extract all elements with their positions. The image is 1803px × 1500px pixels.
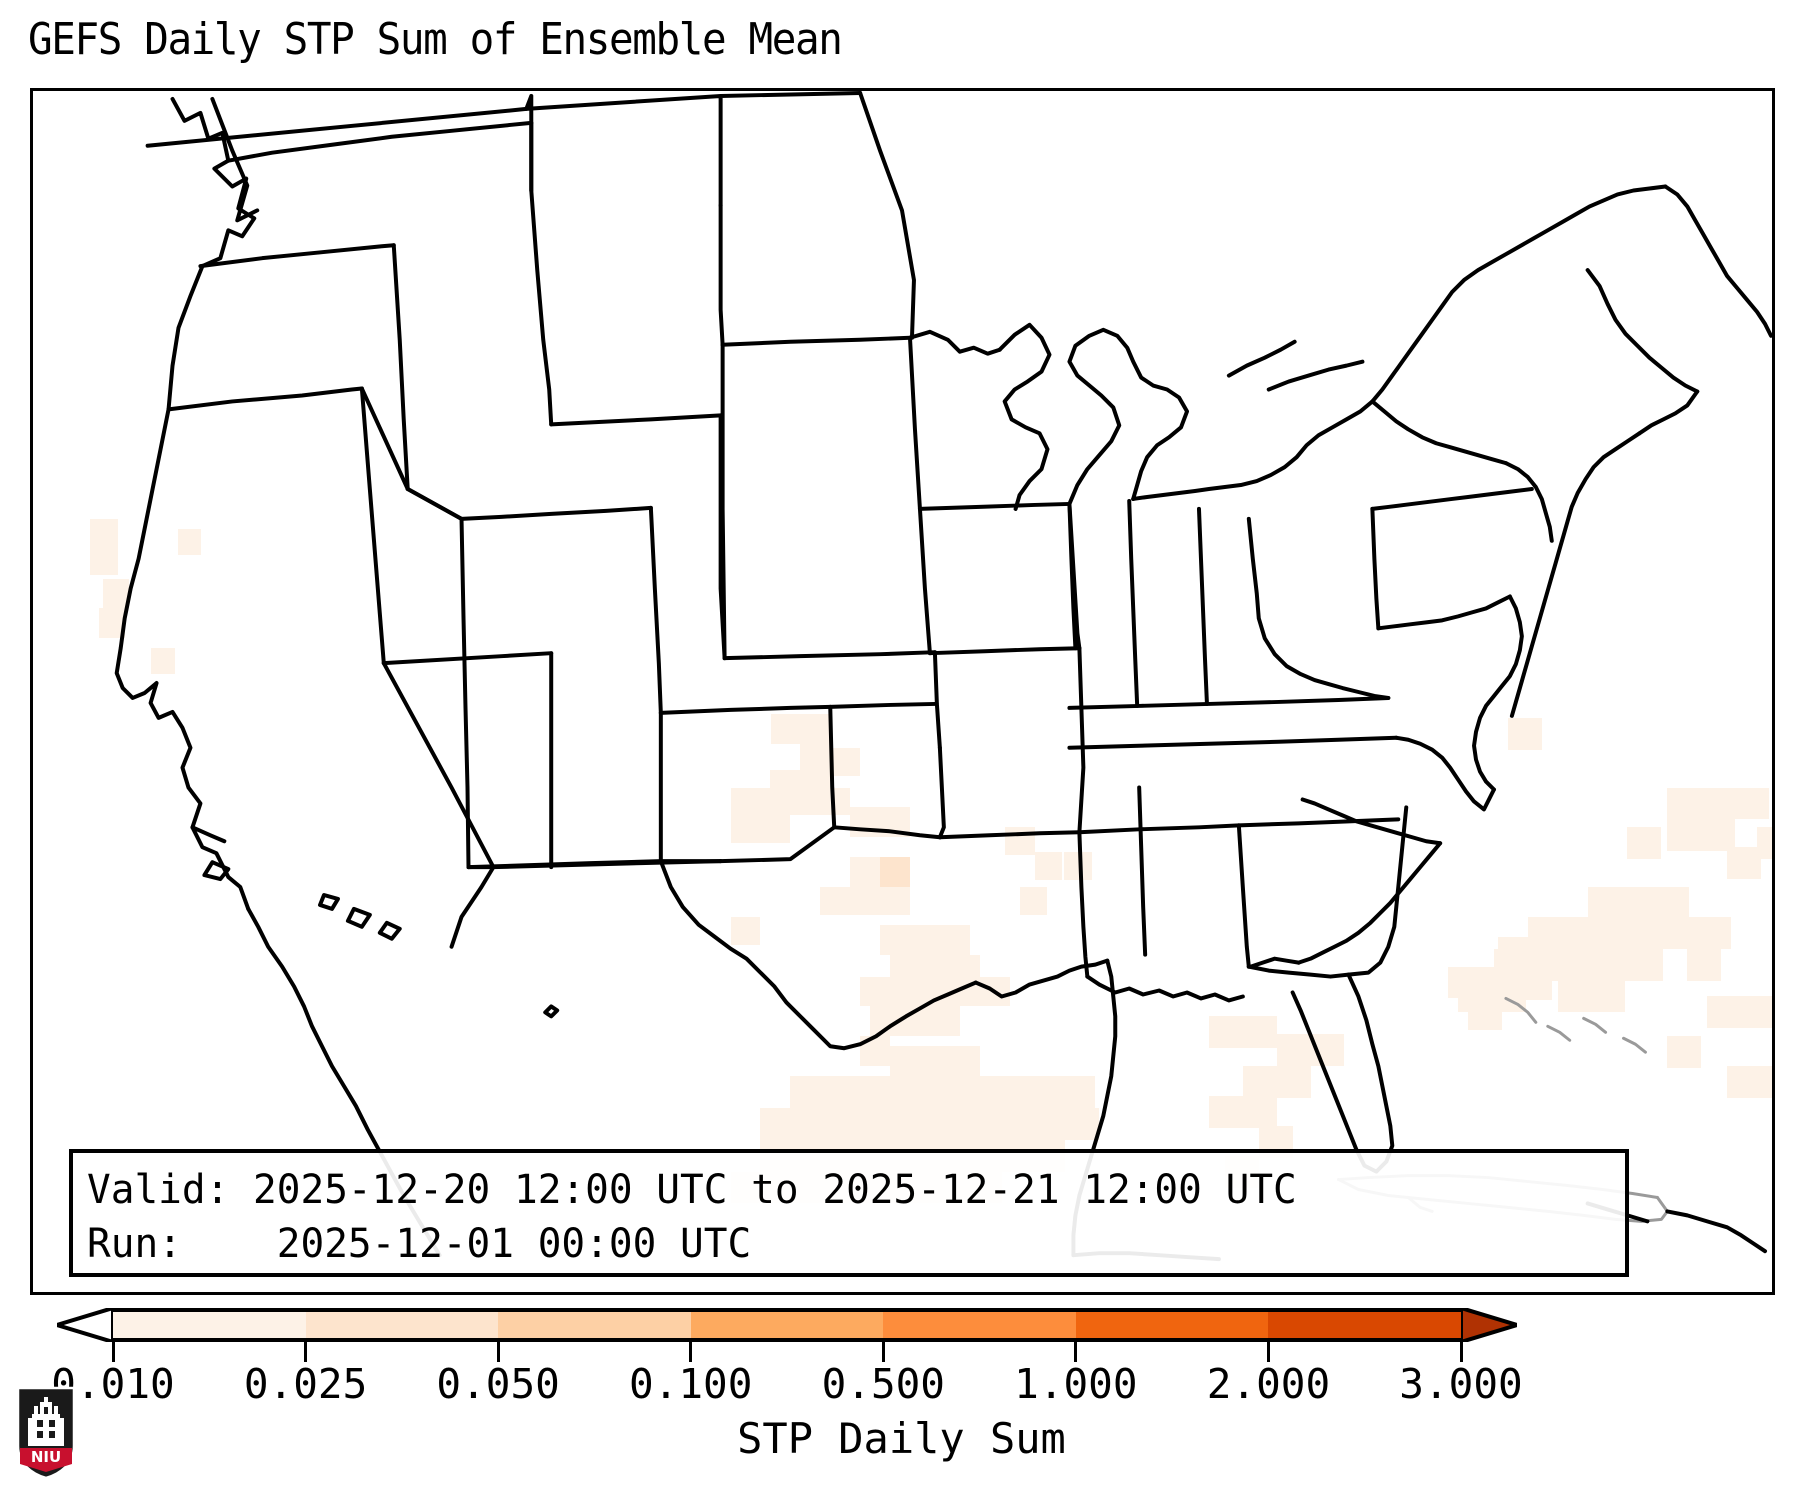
colorbar-tick-label-4: 0.500 — [822, 1364, 945, 1405]
colorbar-tick-label-5: 1.000 — [1014, 1364, 1137, 1405]
colorbar-tick-1 — [304, 1342, 307, 1362]
colorbar-tick-2 — [497, 1342, 500, 1362]
colorbar-segment-6 — [1268, 1312, 1461, 1338]
colorbar: 0.0100.0250.0500.1000.5001.0002.0003.000 — [0, 1308, 1803, 1368]
map-geography — [33, 91, 1772, 1292]
colorbar-tick-6 — [1267, 1342, 1270, 1362]
colorbar-segment-3 — [691, 1312, 884, 1338]
annotation-box: Valid: 2025-12-20 12:00 UTC to 2025-12-2… — [69, 1149, 1629, 1277]
niu-logo-text: NIU — [31, 1448, 61, 1466]
colorbar-tick-0 — [112, 1342, 115, 1362]
colorbar-segment-1 — [306, 1312, 499, 1338]
colorbar-over-arrow — [1461, 1308, 1517, 1342]
colorbar-gradient — [113, 1308, 1461, 1342]
colorbar-tick-label-2: 0.050 — [436, 1364, 559, 1405]
colorbar-axis-label: STP Daily Sum — [0, 1414, 1803, 1463]
run-time-text: Run: 2025-12-01 00:00 UTC — [87, 1217, 1602, 1271]
colorbar-segment-4 — [883, 1312, 1076, 1338]
colorbar-tick-7 — [1460, 1342, 1463, 1362]
colorbar-segment-0 — [113, 1312, 306, 1338]
colorbar-tick-3 — [689, 1342, 692, 1362]
colorbar-under-arrow — [57, 1308, 113, 1342]
colorbar-tick-label-6: 2.000 — [1207, 1364, 1330, 1405]
valid-time-text: Valid: 2025-12-20 12:00 UTC to 2025-12-2… — [87, 1163, 1602, 1217]
colorbar-segment-5 — [1076, 1312, 1269, 1338]
page-title: GEFS Daily STP Sum of Ensemble Mean — [28, 18, 841, 62]
niu-logo: NIU — [16, 1384, 76, 1480]
colorbar-tick-label-7: 3.000 — [1399, 1364, 1522, 1405]
colorbar-tick-5 — [1074, 1342, 1077, 1362]
colorbar-tick-4 — [882, 1342, 885, 1362]
colorbar-tick-label-1: 0.025 — [244, 1364, 367, 1405]
colorbar-tick-label-3: 0.100 — [629, 1364, 752, 1405]
map-panel: Valid: 2025-12-20 12:00 UTC to 2025-12-2… — [30, 88, 1775, 1295]
figure-canvas: GEFS Daily STP Sum of Ensemble Mean — [0, 0, 1803, 1500]
colorbar-segment-2 — [498, 1312, 691, 1338]
